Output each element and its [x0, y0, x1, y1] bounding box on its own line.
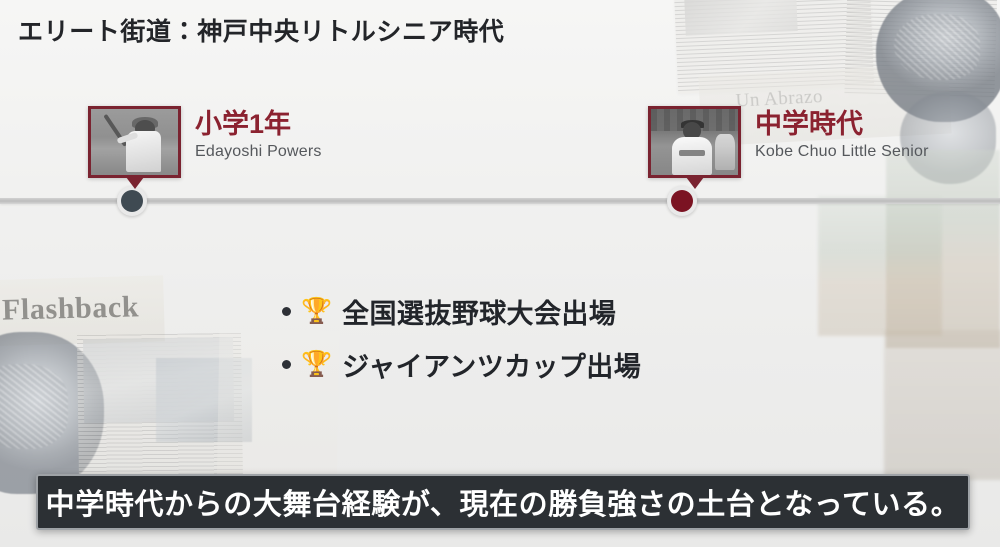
list-item: 🏆 全国選抜野球大会出場 — [282, 292, 641, 331]
trophy-icon: 🏆 — [301, 299, 332, 324]
background-collage: Un Abrazo Flashback — [0, 0, 1000, 547]
brain-mri-image-top-right — [876, 0, 1000, 122]
ballpark-photo-right-b — [818, 196, 942, 336]
page-title: エリート街道：神戸中央リトルシニア時代 — [18, 12, 504, 48]
young-batter-photo-content — [91, 109, 178, 175]
newspaper-clipping-bottom-left — [77, 333, 243, 485]
timeline-event-2[interactable]: 中学時代 Kobe Chuo Little Senior — [648, 106, 929, 178]
timeline-event-1[interactable]: 小学1年 Edayoshi Powers — [88, 106, 322, 178]
junior-player-portrait-content — [651, 109, 738, 175]
flashback-newspaper-sheet — [0, 275, 165, 346]
timeline-event-1-title: 小学1年 — [195, 110, 322, 139]
brain-mri-image-bottom-left — [0, 332, 104, 494]
junior-player-portrait-photo — [648, 106, 741, 178]
timeline-node-1[interactable] — [117, 186, 147, 216]
bullet-dot — [282, 307, 291, 316]
timeline-node-1-core — [121, 190, 143, 212]
timeline-event-2-title: 中学時代 — [755, 110, 929, 139]
timeline-event-1-subtitle: Edayoshi Powers — [195, 143, 322, 161]
timeline-node-2[interactable] — [667, 186, 697, 216]
achievement-list: 🏆 全国選抜野球大会出場 🏆 ジャイアンツカップ出場 — [282, 292, 641, 398]
timeline-event-1-thumb-wrap — [88, 106, 181, 178]
teammate-shape — [715, 134, 734, 170]
timeline-event-1-pointer — [126, 177, 144, 189]
achievement-text: 全国選抜野球大会出場 — [342, 292, 616, 331]
uniform-logo-shape — [679, 150, 705, 156]
caption-text: 中学時代からの大舞台経験が、現在の勝負強さの土台となっている。 — [46, 481, 961, 523]
ballpark-photo-right-c — [884, 330, 1000, 480]
newspaper-photo-bottom-left — [156, 358, 252, 442]
timeline-event-2-subtitle: Kobe Chuo Little Senior — [755, 143, 929, 161]
trophy-icon: 🏆 — [301, 352, 332, 377]
ballpark-photo-right-a — [886, 150, 1000, 348]
bullet-dot — [282, 360, 291, 369]
timeline-event-1-text: 小学1年 Edayoshi Powers — [195, 106, 322, 161]
newspaper-clipping-top-right-a — [674, 0, 874, 94]
achievement-text: ジャイアンツカップ出場 — [342, 345, 641, 384]
newspaper-clipping-top-right-b — [844, 0, 997, 98]
timeline-event-2-thumb-wrap — [648, 106, 741, 178]
young-batter-photo — [88, 106, 181, 178]
uniform-shape — [672, 137, 712, 175]
timeline-axis — [0, 198, 1000, 204]
timeline-event-2-text: 中学時代 Kobe Chuo Little Senior — [755, 106, 929, 161]
caption-bar: 中学時代からの大舞台経験が、現在の勝負強さの土台となっている。 — [36, 474, 970, 530]
timeline-node-2-core — [671, 190, 693, 212]
flashback-masthead-text: Flashback — [2, 290, 140, 327]
timeline-event-2-pointer — [686, 177, 704, 189]
slide-root: Un Abrazo Flashback エリート街道：神戸中央リトルシニア時代 — [0, 0, 1000, 547]
list-item: 🏆 ジャイアンツカップ出場 — [282, 345, 641, 384]
